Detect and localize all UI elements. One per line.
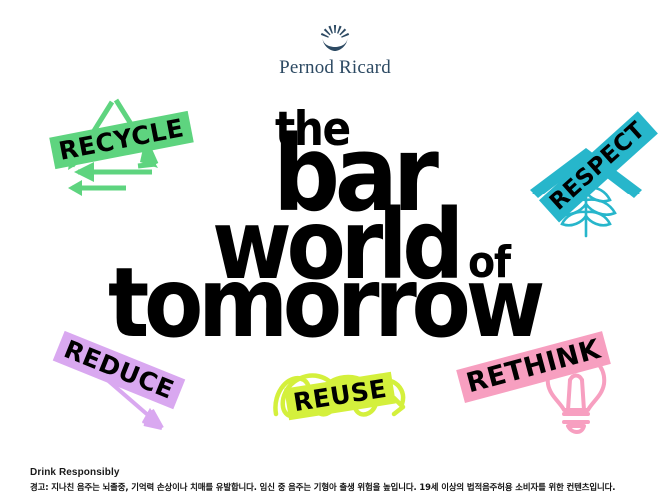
headline-line-the: the [275, 112, 350, 149]
footer-legal: Drink Responsibly 경고: 지나친 음주는 뇌졸중, 기억력 손… [30, 466, 656, 494]
headline-line-of: of [468, 246, 510, 280]
badge-rethink[interactable]: RETHINK [452, 336, 620, 440]
headline-line-world: world [212, 208, 459, 283]
brand-logo-block: Pernod Ricard [0, 22, 670, 78]
drink-responsibly-heading: Drink Responsibly [30, 466, 656, 479]
badge-reuse[interactable]: REUSE [264, 358, 422, 448]
badge-reduce[interactable]: REDUCE [38, 342, 184, 440]
badge-respect[interactable]: RESPECT [524, 148, 658, 242]
legal-disclaimer-text: 경고: 지나친 음주는 뇌졸중, 기억력 손상이나 치매를 유발합니다. 임신 … [30, 481, 656, 494]
brand-wordmark: Pernod Ricard [0, 58, 670, 78]
headline-line-tomorrow: tomorrow [108, 266, 540, 341]
headline-line-bar: bar [273, 134, 434, 215]
sunburst-icon [318, 22, 352, 56]
badge-recycle[interactable]: RECYCLE [48, 88, 188, 200]
